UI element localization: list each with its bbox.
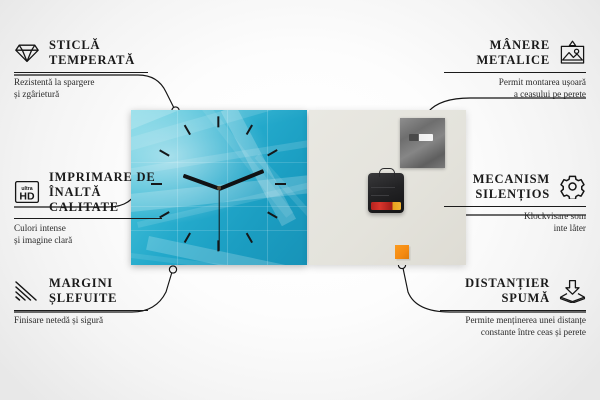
clock-movement-box [368,173,404,213]
picture-hanger-icon [559,40,586,65]
gear-icon [559,174,586,199]
divider [14,310,148,311]
hanger-loop [379,168,395,177]
divider [14,218,162,219]
movement-seam [371,187,395,188]
feature-title: IMPRIMARE DE ÎNALTĂ CALITATE [49,170,162,214]
infographic-canvas: STICLĂ TEMPERATĂ Rezistentă la spargere … [0,0,600,400]
hour-tick [184,233,191,243]
feature-foam-spacer: DISTANȚIER SPUMĂ Permite menținerea unei… [440,276,586,338]
feature-subtitle: Permite menținerea unei distanțe constan… [440,314,586,338]
aa-battery [371,202,401,210]
feature-subtitle: Finisare netedă și sigură [14,314,148,326]
feature-title: MARGINI ȘLEFUITE [49,276,117,306]
hour-tick [246,233,253,243]
divider [440,310,586,311]
feature-subtitle: Permit montarea ușoară a ceasului pe per… [444,76,586,100]
svg-text:HD: HD [19,191,35,203]
hanger-slot [409,134,433,141]
feature-title: MECANISM SILENȚIOS [473,172,550,202]
divider [444,206,586,207]
clock-center-pin [217,186,221,190]
foam-spacer-pad [395,245,409,259]
feature-subtitle: Culori intense și imagine clară [14,222,162,246]
feature-metal-handles: MÂNERE METALICE Permit montarea ușoară a… [444,38,586,100]
feature-title: MÂNERE METALICE [476,38,550,68]
feature-hq-print: ultra HD IMPRIMARE DE ÎNALTĂ CALITATE Cu… [14,170,162,247]
metal-hanger-plate [400,118,445,168]
divider [444,72,586,73]
feature-title: STICLĂ TEMPERATĂ [49,38,135,68]
movement-seam [371,195,389,196]
foam-spacer-icon [559,279,586,303]
diamond-icon [14,42,40,64]
polished-edge-icon [14,280,40,302]
feature-subtitle: Klockvisare som inte låter [444,210,586,234]
feature-polished-edges: MARGINI ȘLEFUITE Finisare netedă și sigu… [14,276,148,326]
hour-tick [275,183,286,185]
feature-tempered-glass: STICLĂ TEMPERATĂ Rezistentă la spargere … [14,38,148,100]
feature-title: DISTANȚIER SPUMĂ [465,276,550,306]
divider [14,72,148,73]
hour-tick [218,116,220,127]
feature-silent-movement: MECANISM SILENȚIOS Klockvisare som inte … [444,172,586,234]
clock-hand-second [218,189,219,251]
ultra-hd-icon: ultra HD [14,180,40,204]
connector-dot-left-3 [169,266,176,273]
feature-subtitle: Rezistentă la spargere și zgârietură [14,76,148,100]
